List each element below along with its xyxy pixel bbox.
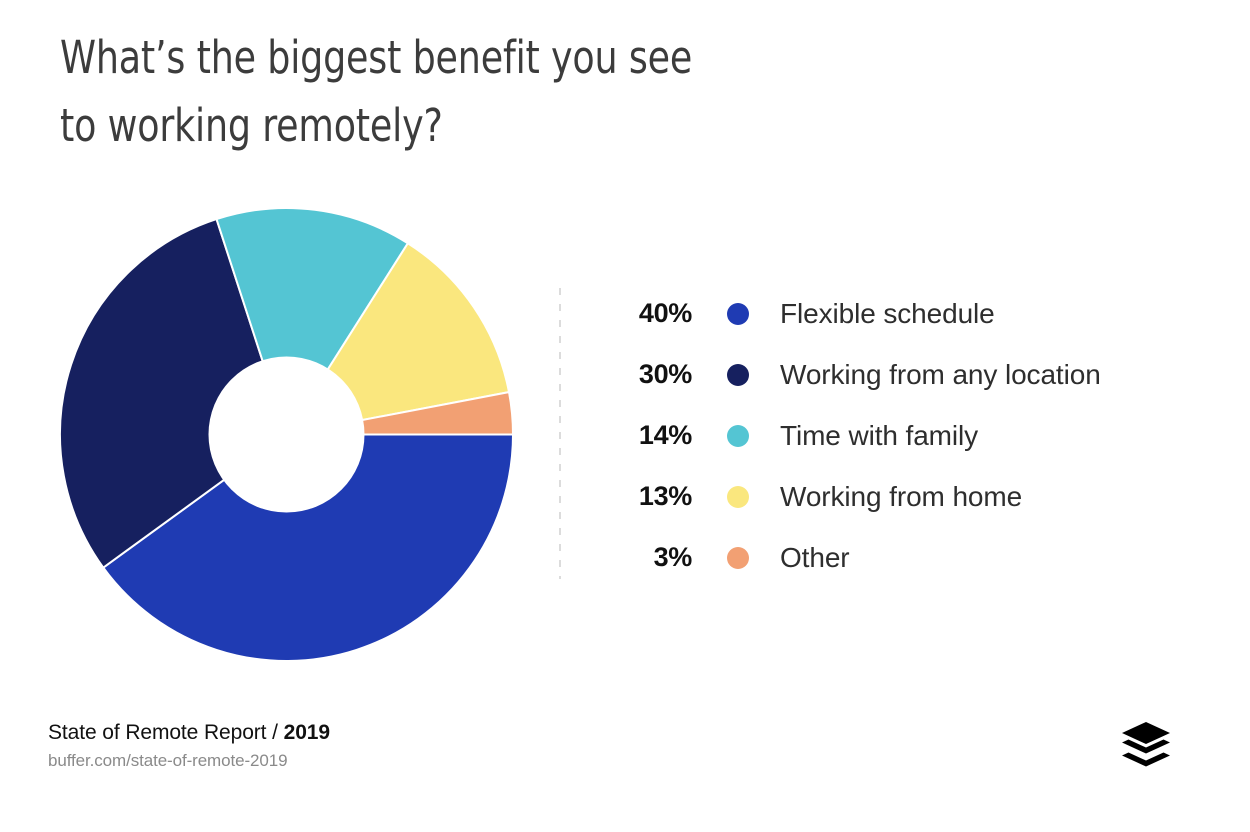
legend-percentage: 40% xyxy=(600,298,692,329)
legend-percentage: 3% xyxy=(600,542,692,573)
footer-report-year: 2019 xyxy=(284,721,330,744)
legend-swatch-time-with-family xyxy=(727,425,749,447)
legend-percentage: 13% xyxy=(600,481,692,512)
legend-label: Time with family xyxy=(780,420,978,452)
footer-report-title: State of Remote Report / 2019 xyxy=(48,718,330,748)
legend-label: Working from any location xyxy=(780,359,1101,391)
footer-url[interactable]: buffer.com/state-of-remote-2019 xyxy=(48,748,330,774)
donut-center-hole xyxy=(209,357,365,513)
legend-label: Other xyxy=(780,542,850,574)
footer: State of Remote Report / 2019 buffer.com… xyxy=(48,718,330,774)
legend-swatch-working-from-home xyxy=(727,486,749,508)
legend-row: 40%Flexible schedule xyxy=(600,283,1200,344)
legend-row: 14%Time with family xyxy=(600,405,1200,466)
slide-root: What’s the biggest benefit you see to wo… xyxy=(0,0,1250,832)
footer-report-name: State of Remote Report / xyxy=(48,721,284,744)
buffer-logo-icon xyxy=(1120,722,1172,770)
legend-swatch-working-from-any-location xyxy=(727,364,749,386)
legend-label: Flexible schedule xyxy=(780,298,995,330)
legend-row: 3%Other xyxy=(600,527,1200,588)
legend-label: Working from home xyxy=(780,481,1022,513)
legend-row: 30%Working from any location xyxy=(600,344,1200,405)
legend-row: 13%Working from home xyxy=(600,466,1200,527)
legend-swatch-other xyxy=(727,547,749,569)
legend-swatch-flexible-schedule xyxy=(727,303,749,325)
donut-chart xyxy=(60,208,513,661)
divider xyxy=(559,288,561,579)
donut-chart-svg xyxy=(60,208,513,661)
legend-percentage: 14% xyxy=(600,420,692,451)
buffer-logo xyxy=(1120,722,1172,770)
page-title: What’s the biggest benefit you see to wo… xyxy=(60,24,798,160)
legend-percentage: 30% xyxy=(600,359,692,390)
chart-legend: 40%Flexible schedule30%Working from any … xyxy=(600,283,1200,588)
